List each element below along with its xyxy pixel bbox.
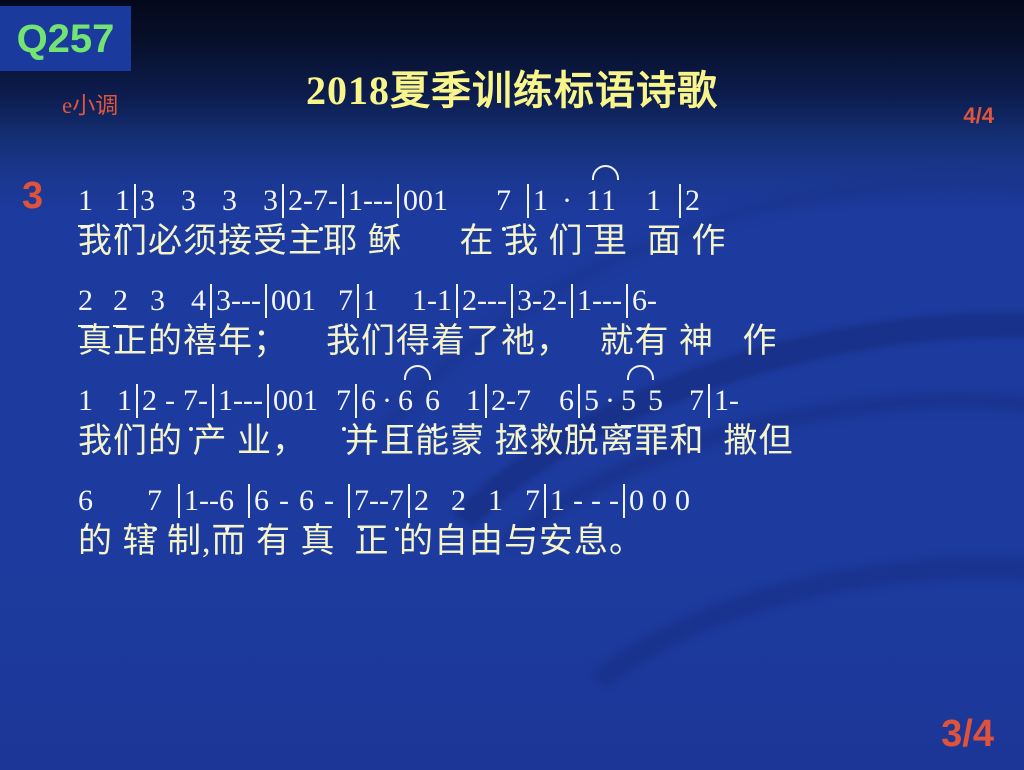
- note: 1: [601, 178, 616, 224]
- barline: [527, 184, 529, 218]
- barline: [578, 384, 580, 418]
- lyric-text: 真正的禧年； 我们得着了祂， 就有 神 作: [78, 323, 778, 360]
- dash: -: [379, 478, 389, 524]
- note: 2: [685, 178, 700, 224]
- note: 2: [142, 378, 157, 424]
- augmentation-dot: ·: [382, 378, 392, 424]
- score-line: 22343---001711-12---3-2-1---6- 真正的禧年； 我们…: [78, 278, 998, 366]
- note: 1: [646, 178, 661, 224]
- note: 1: [218, 378, 233, 424]
- note: 5: [648, 378, 663, 424]
- note: 6: [219, 478, 234, 524]
- dash: -: [233, 378, 243, 424]
- note: 3: [216, 278, 231, 324]
- note: 1: [577, 278, 592, 324]
- page-title: 2018夏季训练标语诗歌: [0, 58, 1024, 116]
- dash: -: [324, 478, 334, 524]
- note: 1: [550, 478, 565, 524]
- dash: -: [557, 278, 567, 324]
- rest: 0: [675, 478, 690, 524]
- note: 5: [584, 378, 599, 424]
- score-line: 1133332-7-1---00171·1112 我们必须接受主耶 稣 在 我 …: [78, 178, 998, 266]
- rest: 0: [271, 278, 286, 324]
- dash: -: [427, 278, 437, 324]
- note: 5: [621, 378, 636, 427]
- note: 6: [425, 378, 440, 424]
- dash: -: [199, 478, 209, 524]
- slide-canvas: Q257 e小调 2018夏季训练标语诗歌 4/4 3 1133332-7-1-…: [0, 0, 1024, 770]
- note: 1: [78, 378, 93, 424]
- dash: -: [532, 278, 542, 324]
- barline: [485, 384, 487, 418]
- dash: -: [251, 278, 261, 324]
- dash: -: [592, 278, 602, 324]
- dash: -: [373, 178, 383, 224]
- note: 7: [183, 378, 198, 424]
- barline: [511, 284, 513, 318]
- lyrics-row: 真正的禧年； 我们得着了祂， 就有 神 作: [78, 320, 998, 366]
- note: 2: [462, 278, 477, 324]
- note: 7: [525, 478, 540, 524]
- rest: 0: [288, 378, 303, 424]
- barline: [456, 284, 458, 318]
- note: 1: [437, 278, 452, 324]
- rest: 0: [273, 378, 288, 424]
- barline: [178, 484, 180, 518]
- verse-number-label: 3: [22, 175, 43, 218]
- barline: [212, 384, 214, 418]
- dash: -: [241, 278, 251, 324]
- note: 1: [533, 178, 548, 224]
- dash: -: [369, 478, 379, 524]
- note: 1: [303, 378, 318, 424]
- note: 6: [254, 478, 269, 524]
- dash: -: [602, 278, 612, 324]
- score-line: 112-7-1---00176·6612-765·5571- 我们的 产 业， …: [78, 378, 998, 466]
- dash: -: [231, 278, 241, 324]
- barline: [679, 184, 681, 218]
- note: 1: [433, 178, 448, 224]
- note: 2: [491, 378, 506, 424]
- note: 1: [586, 178, 601, 227]
- dash: -: [612, 278, 622, 324]
- barline: [248, 484, 250, 518]
- note: 1: [348, 178, 363, 224]
- note: 3: [140, 178, 155, 224]
- augmentation-dot: ·: [605, 378, 615, 424]
- notation-row: 112-7-1---00176·6612-765·5571-: [78, 378, 998, 424]
- note: 7: [338, 278, 353, 324]
- note: 2: [414, 478, 429, 524]
- barline: [571, 284, 573, 318]
- note: 6: [78, 478, 93, 524]
- music-score: 1133332-7-1---00171·1112 我们必须接受主耶 稣 在 我 …: [78, 178, 998, 578]
- dash: -: [487, 278, 497, 324]
- barline: [708, 384, 710, 418]
- note: 7: [689, 378, 704, 424]
- dash: -: [729, 378, 739, 424]
- rest: 0: [652, 478, 667, 524]
- time-signature-label: 4/4: [963, 103, 994, 129]
- dash: -: [279, 478, 289, 524]
- note: 1: [184, 478, 199, 524]
- dash: -: [497, 278, 507, 324]
- note: 1: [115, 178, 130, 227]
- dash: -: [243, 378, 253, 424]
- dash: -: [328, 178, 338, 224]
- dash: -: [591, 478, 601, 524]
- barline: [544, 484, 546, 518]
- barline: [348, 484, 350, 518]
- dash: -: [506, 378, 516, 424]
- note: 1: [714, 378, 729, 424]
- barline: [357, 284, 359, 318]
- dash: -: [253, 378, 263, 424]
- barline: [626, 284, 628, 318]
- notation-row: 1133332-7-1---00171·1112: [78, 178, 998, 224]
- note: 1: [363, 278, 378, 324]
- lyrics-row: 我们的 产 业， 并且能蒙 拯救脱离罪和 撒但: [78, 420, 998, 466]
- note: 3: [181, 178, 196, 224]
- note: 2: [113, 278, 128, 327]
- note: 2: [542, 278, 557, 324]
- lyric-text: 我们必须接受主耶 稣 在 我 们 里 面 作: [78, 223, 727, 260]
- dash: -: [609, 478, 619, 524]
- lyrics-row: 的 辖 制,而 有 真 正 的自由与安息。: [78, 520, 998, 566]
- dash: -: [383, 178, 393, 224]
- note: 7: [313, 178, 328, 224]
- barline: [210, 284, 212, 318]
- rest: 0: [286, 278, 301, 324]
- notation-row: 671--66-6-7--722171---000: [78, 478, 998, 524]
- score-line: 671--66-6-7--722171---000 的 辖 制,而 有 真 正 …: [78, 478, 998, 566]
- note: 6: [299, 478, 314, 524]
- note: 6: [361, 378, 376, 424]
- barline: [282, 184, 284, 218]
- note: 2: [451, 478, 466, 524]
- note: 1: [466, 378, 481, 424]
- page-number-label: 3/4: [941, 713, 994, 756]
- dash: -: [209, 478, 219, 524]
- note: 6: [632, 278, 647, 324]
- note: 7: [354, 478, 369, 524]
- note: 4: [191, 278, 206, 324]
- note: 7: [516, 378, 531, 424]
- lyric-text: 我们的 产 业， 并且能蒙 拯救脱离罪和 撒但: [78, 423, 794, 460]
- barline: [397, 184, 399, 218]
- note: 1: [412, 278, 427, 324]
- dash: -: [363, 178, 373, 224]
- note: 2: [78, 278, 93, 327]
- note: 7: [336, 378, 351, 424]
- barline: [134, 184, 136, 218]
- barline: [623, 484, 625, 518]
- barline: [267, 384, 269, 418]
- dash: -: [477, 278, 487, 324]
- barline: [342, 184, 344, 218]
- note: 7: [496, 178, 511, 224]
- dash: -: [647, 278, 657, 324]
- note: 1: [78, 178, 93, 227]
- note: 3: [263, 178, 278, 224]
- rest: 0: [403, 178, 418, 224]
- note: 7: [389, 478, 404, 524]
- dash: -: [303, 178, 313, 224]
- augmentation-dot: ·: [562, 178, 572, 224]
- note: 1: [117, 378, 132, 424]
- note: 2: [288, 178, 303, 224]
- note: 7: [147, 478, 162, 524]
- barline: [136, 384, 138, 418]
- lyrics-row: 我们必须接受主耶 稣 在 我 们 里 面 作: [78, 220, 998, 266]
- note: 6: [559, 378, 574, 424]
- dash: -: [198, 378, 208, 424]
- barline: [265, 284, 267, 318]
- note: 6: [398, 378, 413, 427]
- note: 1: [301, 278, 316, 324]
- hymn-code-label: Q257: [17, 19, 115, 59]
- barline: [355, 384, 357, 418]
- rest: 0: [418, 178, 433, 224]
- dash: -: [165, 378, 175, 424]
- barline: [408, 484, 410, 518]
- rest: 0: [629, 478, 644, 524]
- note: 1: [488, 478, 503, 524]
- dash: -: [573, 478, 583, 524]
- notation-row: 22343---001711-12---3-2-1---6-: [78, 278, 998, 324]
- note: 3: [150, 278, 165, 324]
- note: 3: [222, 178, 237, 224]
- note: 3: [517, 278, 532, 324]
